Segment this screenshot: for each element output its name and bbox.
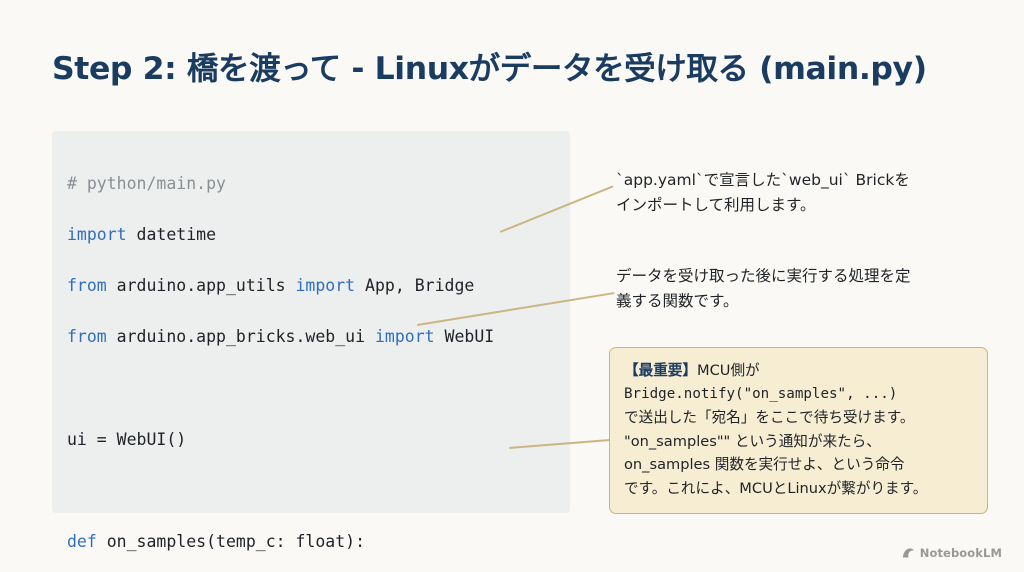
code-text: WebUI — [435, 327, 495, 346]
code-keyword: from — [67, 276, 107, 295]
code-line-3: from arduino.app_utils import App, Bridg… — [67, 273, 562, 299]
code-keyword: from — [67, 327, 107, 346]
code-text: App, Bridge — [355, 276, 474, 295]
annotation-callback-definition: データを受け取った後に実行する処理を定 義する関数です。 — [616, 264, 988, 314]
callout-line-5: on_samples 関数を実行せよ、という命令 — [624, 453, 973, 477]
notebooklm-watermark: NotebookLM — [902, 546, 1002, 560]
code-line-1: # python/main.py — [67, 171, 562, 197]
notebooklm-watermark-label: NotebookLM — [920, 546, 1002, 560]
code-keyword: import — [296, 276, 356, 295]
code-text: ui = WebUI() — [67, 430, 186, 449]
code-line-2: import datetime — [67, 222, 562, 248]
code-keyword: import — [375, 327, 435, 346]
callout-box-most-important: 【最重要】MCU側が Bridge.notify("on_samples", .… — [609, 347, 988, 514]
callout-line-1-text: MCU側が — [697, 362, 760, 379]
callout-line-4: "on_samples"" という通知が来たら、 — [624, 430, 973, 454]
code-text: on_samples(temp_c: float): — [97, 532, 365, 551]
notebooklm-logo-icon — [902, 547, 915, 559]
page-title: Step 2: 橋を渡って - Linuxがデータを受け取る (main.py) — [52, 51, 992, 87]
code-line-8: def on_samples(temp_c: float): — [67, 529, 562, 555]
code-line-4: from arduino.app_bricks.web_ui import We… — [67, 324, 562, 350]
code-line-7-blank — [67, 478, 562, 504]
code-block: # python/main.py import datetime from ar… — [67, 145, 562, 572]
callout-line-1: 【最重要】MCU側が — [624, 359, 973, 383]
code-text: datetime — [127, 225, 216, 244]
code-keyword: def — [67, 532, 97, 551]
code-line-5-blank — [67, 375, 562, 401]
code-panel: # python/main.py import datetime from ar… — [52, 131, 570, 513]
code-text: arduino.app_bricks.web_ui — [107, 327, 375, 346]
annotation-web-ui-import: `app.yaml`で宣言した`web_ui` Brickを インポートして利用… — [616, 168, 988, 218]
code-keyword: import — [67, 225, 127, 244]
code-text: arduino.app_utils — [107, 276, 296, 295]
code-line-6: ui = WebUI() — [67, 427, 562, 453]
code-comment: # python/main.py — [67, 174, 226, 193]
callout-emphasis-label: 【最重要】 — [624, 362, 697, 379]
slide-canvas: Step 2: 橋を渡って - Linuxがデータを受け取る (main.py)… — [0, 0, 1024, 572]
callout-line-6: です。これによ、MCUとLinuxが繋がります。 — [624, 477, 973, 501]
callout-line-2: Bridge.notify("on_samples", ...) — [624, 383, 973, 407]
callout-line-3: で送出した「宛名」をここで待ち受けます。 — [624, 406, 973, 430]
